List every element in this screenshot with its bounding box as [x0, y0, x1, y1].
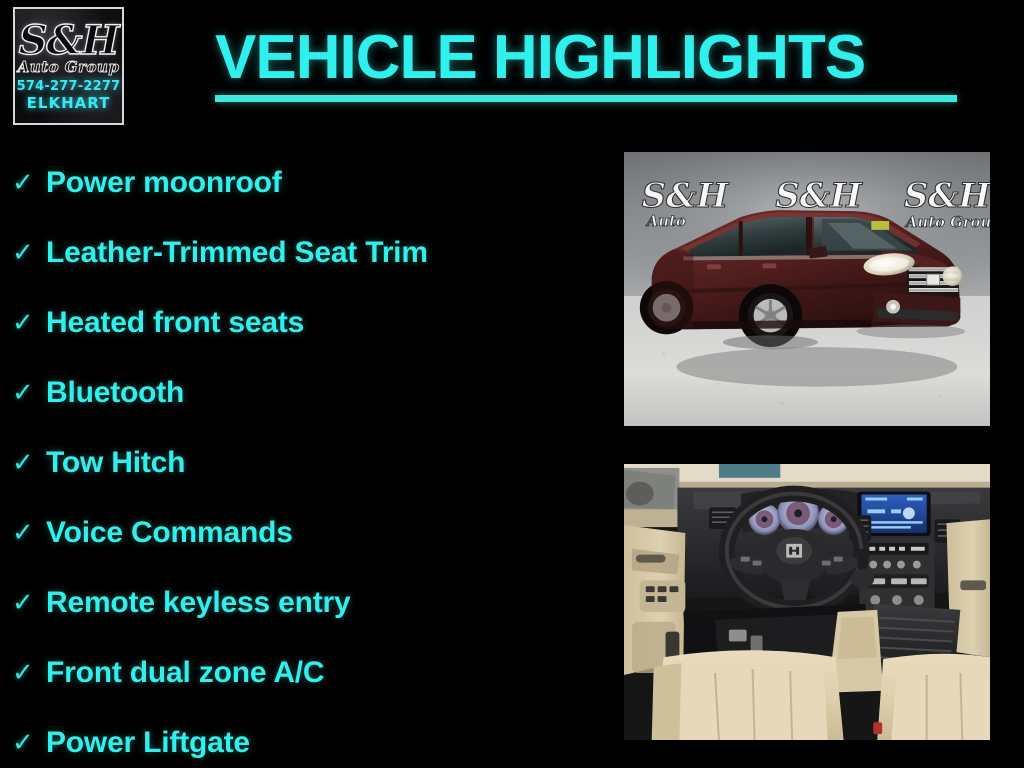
list-item: ✓ Leather-Trimmed Seat Trim: [12, 218, 597, 288]
check-icon: ✓: [12, 450, 46, 476]
highlight-label: Voice Commands: [46, 516, 293, 550]
vehicle-exterior-photo: S&H Auto S&H S&H Auto Group: [622, 150, 992, 428]
list-item: ✓ Tow Hitch: [12, 428, 597, 498]
svg-text:S&H: S&H: [904, 175, 990, 215]
highlight-label: Front dual zone A/C: [46, 656, 324, 690]
check-icon: ✓: [12, 730, 46, 756]
logo-brand-script: S&H: [19, 22, 119, 60]
highlight-label: Power Liftgate: [46, 726, 250, 760]
check-icon: ✓: [12, 240, 46, 266]
list-item: ✓ Power moonroof: [12, 148, 597, 218]
highlights-list: ✓ Power moonroof ✓ Leather-Trimmed Seat …: [12, 148, 597, 768]
highlight-label: Leather-Trimmed Seat Trim: [46, 236, 428, 270]
vehicle-highlights-slide: S&H Auto Group 574-277-2277 ELKHART VEHI…: [0, 0, 1024, 768]
list-item: ✓ Bluetooth: [12, 358, 597, 428]
svg-text:S&H: S&H: [775, 175, 863, 215]
highlight-label: Tow Hitch: [46, 446, 185, 480]
vehicle-interior-photo: [622, 462, 992, 742]
check-icon: ✓: [12, 380, 46, 406]
check-icon: ✓: [12, 660, 46, 686]
logo-phone: 574-277-2277: [17, 79, 121, 94]
list-item: ✓ Front dual zone A/C: [12, 638, 597, 708]
list-item: ✓ Voice Commands: [12, 498, 597, 568]
list-item: ✓ Remote keyless entry: [12, 568, 597, 638]
highlight-label: Remote keyless entry: [46, 586, 351, 620]
highlight-label: Power moonroof: [46, 166, 282, 200]
logo-city: ELKHART: [27, 94, 111, 112]
svg-text:S&H: S&H: [642, 175, 730, 215]
highlight-label: Heated front seats: [46, 306, 304, 340]
list-item: ✓ Power Liftgate: [12, 708, 597, 768]
title-underline: [215, 95, 957, 102]
highlight-label: Bluetooth: [46, 376, 184, 410]
watermark: S&H Auto Group: [904, 175, 990, 231]
svg-text:Auto Group: Auto Group: [904, 214, 990, 231]
logo-brand-sub: Auto Group: [18, 58, 120, 76]
list-item: ✓ Heated front seats: [12, 288, 597, 358]
exterior-illustration: S&H Auto S&H S&H Auto Group: [624, 152, 990, 426]
check-icon: ✓: [12, 590, 46, 616]
svg-text:Auto: Auto: [645, 213, 686, 230]
check-icon: ✓: [12, 170, 46, 196]
check-icon: ✓: [12, 520, 46, 546]
check-icon: ✓: [12, 310, 46, 336]
page-title: VEHICLE HIGHLIGHTS: [215, 25, 960, 91]
interior-illustration: [624, 464, 990, 740]
page-title-block: VEHICLE HIGHLIGHTS: [215, 25, 960, 102]
watermark: S&H: [775, 175, 863, 215]
dealer-logo: S&H Auto Group 574-277-2277 ELKHART: [13, 7, 124, 125]
